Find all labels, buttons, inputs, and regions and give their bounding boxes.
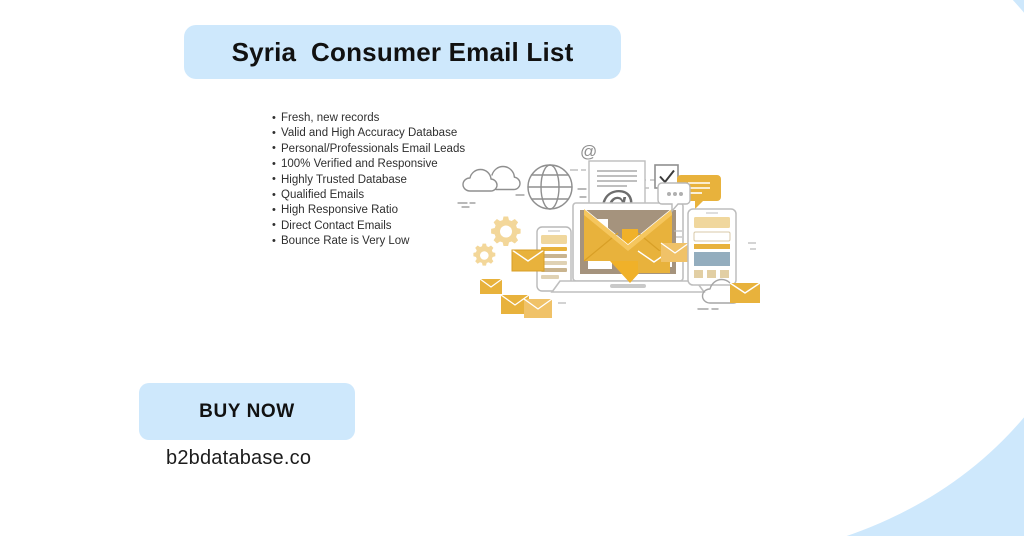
- title-banner: Syria Consumer Email List: [184, 25, 621, 79]
- globe-icon: [528, 165, 572, 209]
- envelope-icon: [524, 299, 552, 318]
- envelope-icon: [661, 243, 689, 262]
- promo-banner-page: Syria Consumer Email List Fresh, new rec…: [0, 0, 1024, 536]
- list-item: Fresh, new records: [272, 111, 502, 126]
- envelope-icon: [730, 283, 760, 303]
- email-marketing-illustration: @ @: [452, 143, 772, 318]
- page-title: Syria Consumer Email List: [232, 37, 574, 68]
- list-item: Valid and High Accuracy Database: [272, 126, 502, 141]
- cloud-icon: [463, 167, 520, 192]
- motion-dash-icon: [458, 203, 475, 207]
- tablet-icon: [688, 209, 736, 285]
- envelope-icon: [512, 250, 544, 271]
- buy-now-button[interactable]: BUY NOW: [139, 383, 355, 440]
- envelope-icon: [480, 279, 502, 294]
- buy-now-label: BUY NOW: [199, 401, 295, 423]
- at-symbol-icon: @: [580, 143, 597, 161]
- site-url[interactable]: b2bdatabase.co: [166, 447, 311, 470]
- motion-dash-icon: [516, 189, 586, 197]
